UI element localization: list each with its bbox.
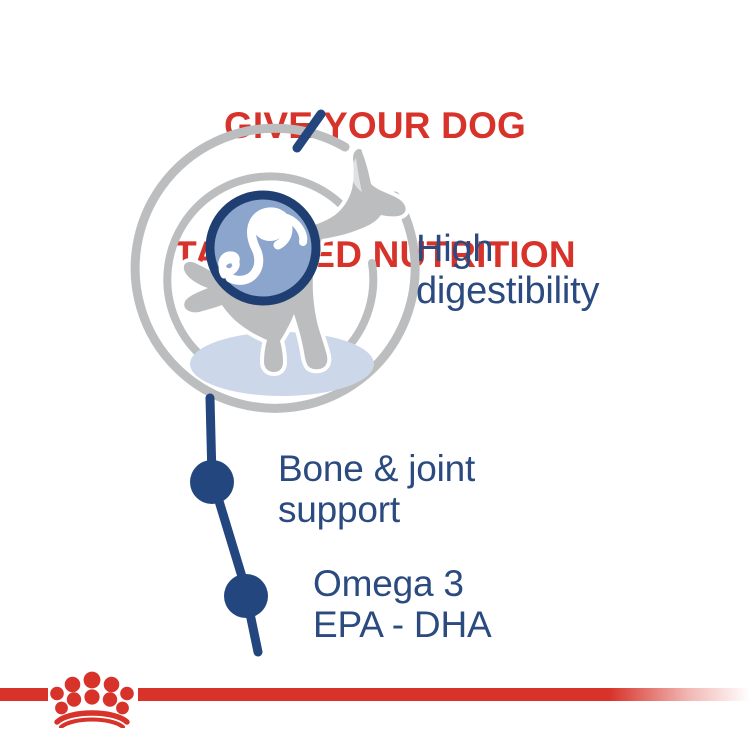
connector-node-1: [190, 460, 234, 504]
benefit-line-2: support: [278, 489, 608, 530]
connector-node-2: [224, 574, 268, 618]
connector-top-tick: [285, 108, 345, 158]
footer-bar: [0, 658, 750, 750]
benefit-line-2: digestibility: [416, 270, 736, 312]
digestion-highlight-circle: [210, 195, 316, 301]
benefit-label-high-digestibility: High digestibility: [416, 228, 736, 312]
benefit-line-2: EPA - DHA: [313, 604, 643, 645]
benefit-label-omega-3: Omega 3 EPA - DHA: [313, 563, 643, 645]
dog-digestion-illustration: [110, 100, 440, 430]
footer-rule-right: [138, 688, 750, 701]
footer-rule-left: [0, 688, 48, 701]
benefit-connector-line: [140, 390, 360, 690]
poster-canvas: GIVE YOUR DOG TAILORED NUTRITION: [0, 0, 750, 750]
royal-canin-crown-icon: [50, 670, 134, 728]
benefit-label-bone-joint-support: Bone & joint support: [278, 448, 608, 530]
benefit-line-1: Bone & joint: [278, 448, 608, 489]
benefit-line-1: High: [416, 228, 736, 270]
benefit-line-1: Omega 3: [313, 563, 643, 604]
